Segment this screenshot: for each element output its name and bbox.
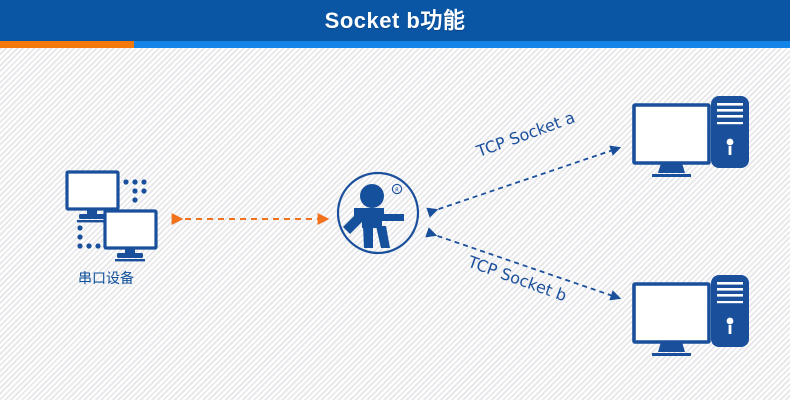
accent-strip-orange: [0, 41, 134, 48]
diagram-canvas: Socket b功能: [0, 0, 790, 400]
accent-strip-blue: [134, 41, 790, 48]
accent-strip: [0, 41, 790, 48]
serial-device-label: 串口设备: [78, 268, 134, 288]
diagram-background: [0, 48, 790, 400]
header-banner: Socket b功能: [0, 0, 790, 41]
page-title: Socket b功能: [325, 10, 466, 32]
